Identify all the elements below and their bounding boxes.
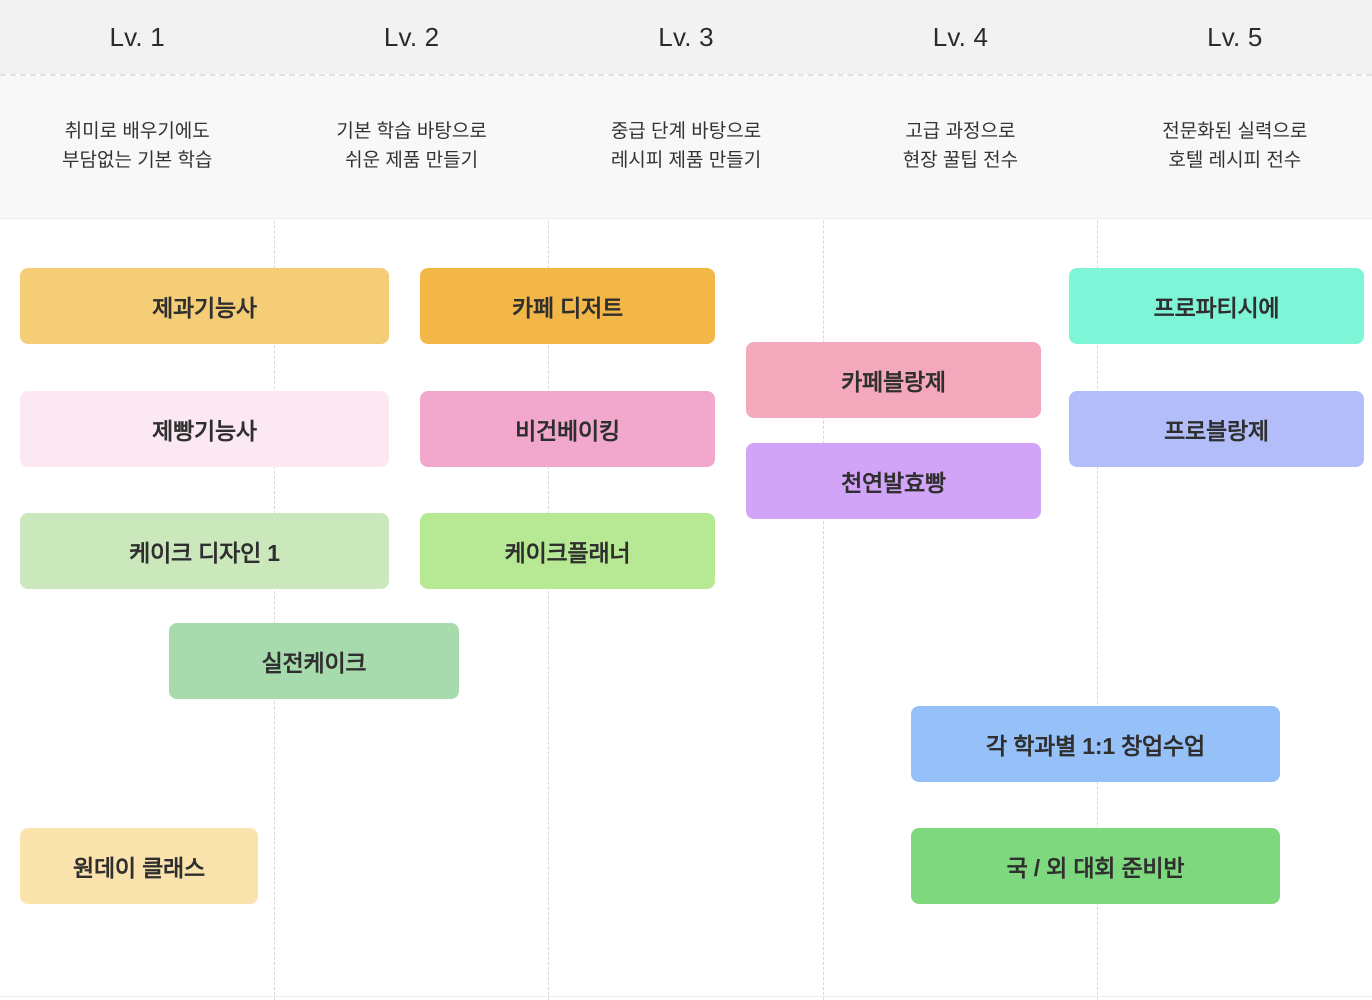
course-box[interactable]: 실전케이크 [169,623,459,699]
course-box[interactable]: 프로블랑제 [1069,391,1364,467]
course-box[interactable]: 비건베이킹 [420,391,715,467]
curriculum-level-chart: Lv. 1Lv. 2Lv. 3Lv. 4Lv. 5 취미로 배우기에도부담없는 … [0,0,1372,1000]
course-box[interactable]: 제과기능사 [20,268,389,344]
course-box[interactable]: 원데이 클래스 [20,828,258,904]
course-box[interactable]: 프로파티시에 [1069,268,1364,344]
course-box[interactable]: 카페 디저트 [420,268,715,344]
course-box[interactable]: 케이크 디자인 1 [20,513,389,589]
course-box[interactable]: 각 학과별 1:1 창업수업 [911,706,1280,782]
course-box[interactable]: 천연발효빵 [746,443,1041,519]
course-boxes-layer: 제과기능사카페 디저트프로파티시에카페블랑제제빵기능사비건베이킹프로블랑제천연발… [0,0,1372,1000]
course-box[interactable]: 제빵기능사 [20,391,389,467]
course-box[interactable]: 국 / 외 대회 준비반 [911,828,1280,904]
course-box[interactable]: 카페블랑제 [746,342,1041,418]
course-box[interactable]: 케이크플래너 [420,513,715,589]
